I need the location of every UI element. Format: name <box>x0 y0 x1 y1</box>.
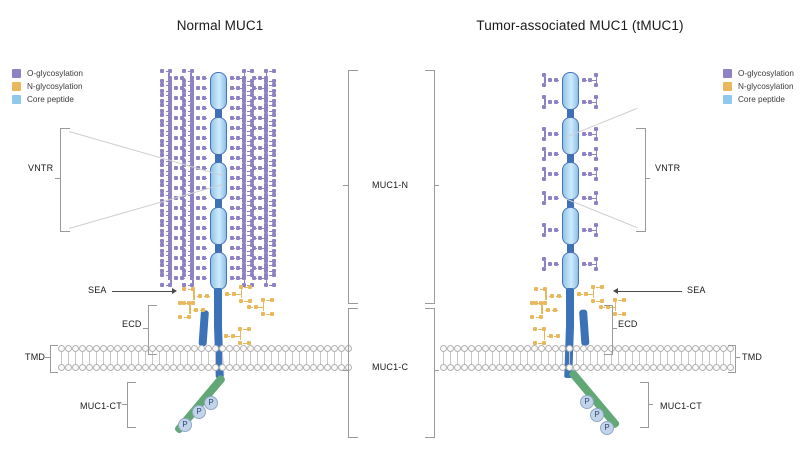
glycan-square-icon <box>613 312 617 316</box>
glycan-square-icon <box>272 249 276 253</box>
glycan-bond <box>230 168 235 169</box>
glycan-square-icon <box>264 249 268 253</box>
glycan-square-icon <box>264 189 268 193</box>
glycan-square-icon <box>250 219 254 223</box>
glycan-bond <box>174 158 178 159</box>
lipid-head-icon <box>622 364 629 371</box>
lipid-head-icon <box>573 345 580 352</box>
glycan-square-icon <box>247 327 251 331</box>
lipid-head-icon <box>685 345 692 352</box>
lipid-head-icon <box>226 364 233 371</box>
lipid-head-icon <box>65 345 72 352</box>
lipid-head-icon <box>135 364 142 371</box>
lipid-tail-icon <box>720 351 727 358</box>
lipid-tail-icon <box>233 351 240 358</box>
lipid-head-icon <box>447 364 454 371</box>
lipid-head-icon <box>545 345 552 352</box>
lipid-head-icon <box>573 364 580 371</box>
lipid-tail-icon <box>65 351 72 358</box>
glycan-bond <box>230 78 235 79</box>
glycan-square-icon <box>542 105 546 109</box>
lipid-tail-icon <box>170 351 177 358</box>
glycan-bond <box>582 264 587 265</box>
lipid-tail-icon <box>559 351 566 358</box>
glycan-bond <box>188 221 192 222</box>
glycan-square-icon <box>250 139 254 143</box>
lipid-head-icon <box>664 364 671 371</box>
glycan-bond <box>263 302 264 311</box>
glycan-bond <box>240 331 241 340</box>
glycan-square-icon <box>250 209 254 213</box>
glycan-square-icon <box>160 203 164 207</box>
glycan-bond <box>582 198 587 199</box>
glycan-bond <box>200 310 206 311</box>
lipid-head-icon <box>720 364 727 371</box>
lipid-tail-icon <box>114 351 121 358</box>
muc1-c-bracket <box>348 308 358 438</box>
sea-domain-arm <box>198 310 208 346</box>
glycan-square-icon <box>242 69 246 73</box>
glycan-bond <box>554 154 559 155</box>
glycan-bond <box>184 303 189 304</box>
glycan-bond <box>548 198 552 199</box>
lipid-head-icon <box>275 364 282 371</box>
lipid-head-icon <box>317 364 324 371</box>
lipid-tail-icon <box>615 351 622 358</box>
glycan-square-icon <box>242 79 246 83</box>
glycan-square-icon <box>182 287 186 291</box>
lipid-tail-icon <box>79 351 86 358</box>
glycan-square-icon <box>530 315 534 319</box>
label-ecd-left: ECD <box>122 319 142 329</box>
label-vntr-left: VNTR <box>28 163 53 173</box>
glycan-square-icon <box>160 183 164 187</box>
lipid-head-icon <box>198 345 205 352</box>
lipid-head-icon <box>692 345 699 352</box>
muc1-c-bracket-right <box>425 308 435 438</box>
glycan-bond <box>544 77 545 83</box>
glycan-square-icon <box>270 298 274 302</box>
glycan-square-icon <box>160 173 164 177</box>
lipid-head-icon <box>545 364 552 371</box>
glycan-bond <box>548 264 552 265</box>
glycan-bond <box>188 271 192 272</box>
lipid-head-icon <box>254 364 261 371</box>
glycan-bond <box>538 329 543 330</box>
glycan-square-icon <box>160 163 164 167</box>
glycan-bond <box>247 307 253 308</box>
glycan-square-icon <box>272 99 276 103</box>
lipid-head-icon <box>79 345 86 352</box>
glycan-square-icon <box>248 285 252 289</box>
lipid-head-icon <box>713 345 720 352</box>
glycan-bond <box>196 218 200 219</box>
glycan-square-icon <box>272 83 276 87</box>
lipid-head-icon <box>177 364 184 371</box>
lipid-tail-icon <box>489 351 496 358</box>
lipid-bilayer-membrane-left <box>58 345 358 371</box>
tmd-bracket-right <box>728 345 736 373</box>
lipid-tail-icon <box>296 351 303 358</box>
lipid-head-icon <box>296 364 303 371</box>
lipid-head-icon <box>503 364 510 371</box>
glycan-bond <box>188 201 192 202</box>
lipid-head-icon <box>219 345 226 352</box>
lipid-head-icon <box>510 364 517 371</box>
glycan-bond <box>166 241 170 242</box>
lipid-head-icon <box>643 364 650 371</box>
glycan-bond <box>188 71 192 72</box>
lipid-head-icon <box>303 364 310 371</box>
lipid-tail-icon <box>107 351 114 358</box>
lipid-tail-icon <box>219 351 226 358</box>
lipid-head-icon <box>482 364 489 371</box>
lipid-head-icon <box>268 364 275 371</box>
lipid-head-icon <box>594 364 601 371</box>
lipid-tail-icon <box>156 351 163 358</box>
lipid-tail-icon <box>531 351 538 358</box>
lipid-head-icon <box>524 364 531 371</box>
lipid-head-icon <box>531 345 538 352</box>
glycan-bond <box>202 178 207 179</box>
glycan-square-icon <box>542 233 546 237</box>
glycan-square-icon <box>272 199 276 203</box>
glycan-bond <box>174 78 178 79</box>
glycan-bond <box>188 181 192 182</box>
lipid-tail-icon <box>636 351 643 358</box>
lipid-head-icon <box>261 364 268 371</box>
glycan-bond <box>548 154 552 155</box>
glycan-square-icon <box>264 199 268 203</box>
lipid-tail-icon <box>226 351 233 358</box>
label-ecd-right: ECD <box>618 319 638 329</box>
glycan-bond <box>538 343 543 344</box>
glycan-bond <box>544 331 545 340</box>
glycan-bond <box>166 131 170 132</box>
glycan-bond <box>230 238 235 239</box>
lipid-head-icon <box>107 364 114 371</box>
lipid-head-icon <box>496 345 503 352</box>
lipid-head-icon <box>566 364 573 371</box>
glycan-bond <box>552 310 558 311</box>
glycan-bond <box>230 248 235 249</box>
lipid-head-icon <box>601 364 608 371</box>
glycan-square-icon <box>160 223 164 227</box>
glycan-bond <box>174 148 178 149</box>
peptide-stalk <box>214 288 222 330</box>
glycan-bond <box>170 280 171 285</box>
glycan-bond <box>544 227 545 233</box>
glycan-bond <box>544 195 545 201</box>
glycan-square-icon <box>600 285 604 289</box>
lipid-head-icon <box>699 345 706 352</box>
lipid-tail-icon <box>93 351 100 358</box>
glycan-bond <box>554 198 559 199</box>
glycan-square-icon <box>264 179 268 183</box>
lipid-tail-icon <box>650 351 657 358</box>
glycan-bond <box>582 134 587 135</box>
lipid-head-icon <box>177 345 184 352</box>
glycan-square-icon <box>594 83 598 87</box>
lipid-head-icon <box>163 345 170 352</box>
lipid-tail-icon <box>629 351 636 358</box>
glycan-square-icon <box>160 273 164 277</box>
lipid-tail-icon <box>447 351 454 358</box>
glycan-square-icon <box>272 79 276 83</box>
glycan-square-icon <box>272 239 276 243</box>
glycan-bond <box>204 296 210 297</box>
glycan-square-icon <box>242 199 246 203</box>
glycan-bond <box>196 238 200 239</box>
lipid-head-row <box>440 345 734 352</box>
glycan-bond <box>241 289 242 298</box>
glycan-square-icon <box>272 233 276 237</box>
glycan-square-icon <box>272 153 276 157</box>
glycan-square-icon <box>594 267 598 271</box>
muc1-n-bracket <box>348 70 358 304</box>
diagram-canvas: Normal MUC1 Tumor-associated MUC1 (tMUC1… <box>0 0 800 450</box>
lipid-head-icon <box>629 345 636 352</box>
glycan-square-icon <box>160 83 164 87</box>
glycan-square-icon <box>264 269 268 273</box>
lipid-head-icon <box>282 345 289 352</box>
lipid-head-icon <box>114 364 121 371</box>
glycan-bond <box>230 158 235 159</box>
glycan-bond <box>166 101 170 102</box>
lipid-head-icon <box>489 345 496 352</box>
glycan-square-icon <box>250 129 254 133</box>
lipid-tail-icon <box>454 351 461 358</box>
glycan-square-icon <box>272 273 276 277</box>
sea-arrowhead-right <box>613 288 618 294</box>
glycan-bond <box>196 208 200 209</box>
glycan-bond <box>196 88 200 89</box>
glycan-square-icon <box>264 169 268 173</box>
lipid-head-icon <box>324 345 331 352</box>
glycan-bond <box>193 310 198 311</box>
glycan-square-icon <box>272 243 276 247</box>
lipid-tail-icon <box>699 351 706 358</box>
lipid-head-icon <box>86 364 93 371</box>
glycan-square-icon <box>272 129 276 133</box>
glycan-bond <box>549 296 554 297</box>
glycan-square-icon <box>272 113 276 117</box>
phosphorylation-site: P <box>204 396 218 410</box>
glycan-bond <box>548 134 552 135</box>
peptide-stalk <box>566 288 574 330</box>
glycan-bond <box>196 148 200 149</box>
glycan-square-icon <box>178 315 182 319</box>
glycan-square-icon <box>272 119 276 123</box>
glycan-bond <box>188 131 192 132</box>
glycan-square-icon <box>250 159 254 163</box>
lipid-head-icon <box>149 364 156 371</box>
glycan-square-icon <box>250 149 254 153</box>
glycan-bond <box>196 128 200 129</box>
glycan-square-icon <box>250 69 254 73</box>
glycan-bond <box>230 178 235 179</box>
glycan-square-icon <box>160 283 164 287</box>
lipid-tail-icon <box>310 351 317 358</box>
glycan-bond <box>554 336 560 337</box>
glycan-bond <box>174 168 178 169</box>
glycan-bond <box>244 280 245 285</box>
glycan-square-icon <box>242 169 246 173</box>
glycan-square-icon <box>242 229 246 233</box>
glycan-square-icon <box>242 99 246 103</box>
glycan-bond <box>174 208 178 209</box>
glycan-bond <box>174 218 178 219</box>
glycan-bond <box>174 88 178 89</box>
glycan-square-icon <box>264 119 268 123</box>
glycan-bond <box>615 302 616 311</box>
glycan-square-icon <box>542 157 546 161</box>
lipid-head-icon <box>475 364 482 371</box>
lipid-head-icon <box>643 345 650 352</box>
lipid-head-icon <box>440 364 447 371</box>
lipid-head-icon <box>317 345 324 352</box>
glycan-bond <box>193 291 194 300</box>
glycan-bond <box>244 273 245 280</box>
glycan-bond <box>174 258 178 259</box>
lipid-head-icon <box>93 364 100 371</box>
glycan-bond <box>225 294 231 295</box>
glycan-square-icon <box>160 243 164 247</box>
lipid-head-icon <box>58 364 65 371</box>
glycan-square-icon <box>264 99 268 103</box>
glycan-bond <box>188 289 193 290</box>
lipid-head-icon <box>72 364 79 371</box>
lipid-head-icon <box>615 364 622 371</box>
glycan-bond <box>188 171 192 172</box>
glycan-bond <box>174 238 178 239</box>
glycan-square-icon <box>272 69 276 73</box>
lipid-tail-icon <box>163 351 170 358</box>
glycan-bond <box>188 241 192 242</box>
lipid-head-icon <box>657 345 664 352</box>
glycan-bond <box>596 99 597 105</box>
glycan-bond <box>202 148 207 149</box>
glycan-bond <box>554 134 559 135</box>
glycan-bond <box>230 278 235 279</box>
glycan-bond <box>202 258 207 259</box>
lipid-head-icon <box>275 345 282 352</box>
glycan-bond <box>202 238 207 239</box>
glycan-bond <box>202 88 207 89</box>
lipid-tail-icon <box>524 351 531 358</box>
lipid-head-icon <box>447 345 454 352</box>
lipid-head-icon <box>72 345 79 352</box>
lipid-tail-icon <box>177 351 184 358</box>
glycan-square-icon <box>250 229 254 233</box>
ecd-bracket-right <box>604 305 613 355</box>
lipid-tail-icon <box>713 351 720 358</box>
glycan-bond <box>202 98 207 99</box>
glycan-square-icon <box>272 149 276 153</box>
glycan-bond <box>593 289 594 298</box>
lipid-tail-icon <box>205 351 212 358</box>
glycan-bond <box>544 151 545 157</box>
core-peptide-segment <box>210 252 227 290</box>
lipid-tail-icon <box>496 351 503 358</box>
lipid-head-icon <box>65 364 72 371</box>
lipid-head-icon <box>114 345 121 352</box>
glycan-bond <box>202 268 207 269</box>
lipid-tail-icon <box>643 351 650 358</box>
lipid-tail-icon <box>482 351 489 358</box>
glycan-square-icon <box>272 133 276 137</box>
lipid-head-icon <box>303 345 310 352</box>
glycan-bond <box>196 118 200 119</box>
glycan-bond <box>166 191 170 192</box>
glycan-bond <box>166 91 170 92</box>
glycan-square-icon <box>160 213 164 217</box>
glycan-square-icon <box>264 109 268 113</box>
lipid-tail-icon <box>685 351 692 358</box>
glycan-bond <box>166 171 170 172</box>
label-tmd-right: TMD <box>742 352 762 362</box>
lipid-head-icon <box>671 345 678 352</box>
glycan-bond <box>596 77 597 83</box>
lipid-head-icon <box>212 364 219 371</box>
glycan-square-icon <box>272 93 276 97</box>
lipid-head-icon <box>629 364 636 371</box>
lipid-tail-icon <box>664 351 671 358</box>
vntr-bracket-tick <box>645 178 650 179</box>
glycan-bond <box>554 174 559 175</box>
lipid-head-icon <box>226 345 233 352</box>
lipid-head-icon <box>685 364 692 371</box>
glycan-bond <box>544 261 545 267</box>
lipid-head-icon <box>699 364 706 371</box>
lipid-head-icon <box>496 364 503 371</box>
lipid-bilayer-membrane-right <box>440 345 740 371</box>
label-sea-right: SEA <box>687 285 706 295</box>
muc1-ct-bracket-tick <box>648 404 653 405</box>
glycan-bond <box>174 228 178 229</box>
lipid-head-row <box>58 345 352 352</box>
glycan-square-icon <box>242 179 246 183</box>
glycan-bond <box>544 99 545 105</box>
glycan-square-icon <box>160 263 164 267</box>
lipid-tail-icon <box>191 351 198 358</box>
glycan-bond <box>230 118 235 119</box>
lipid-head-icon <box>538 364 545 371</box>
tmd-bracket-tick <box>735 357 740 358</box>
lipid-head-icon <box>107 345 114 352</box>
glycan-bond <box>582 230 587 231</box>
lipid-head-icon <box>531 364 538 371</box>
lipid-head-icon <box>205 364 212 371</box>
lipid-head-icon <box>468 364 475 371</box>
glycan-bond <box>582 80 587 81</box>
glycan-square-icon <box>160 143 164 147</box>
lipid-tail-icon <box>135 351 142 358</box>
glycan-bond <box>230 148 235 149</box>
label-muc1-n: MUC1-N <box>372 180 408 190</box>
lipid-head-icon <box>538 345 545 352</box>
lipid-head-icon <box>198 364 205 371</box>
glycan-bond <box>596 195 597 201</box>
glycan-bond <box>536 303 541 304</box>
glycan-square-icon <box>264 229 268 233</box>
lipid-tail-icon <box>706 351 713 358</box>
glycan-square-icon <box>250 79 254 83</box>
tmd-bracket-left <box>50 345 58 373</box>
glycan-bond <box>174 278 178 279</box>
glycan-square-icon <box>272 209 276 213</box>
lipid-tail-icon <box>538 351 545 358</box>
